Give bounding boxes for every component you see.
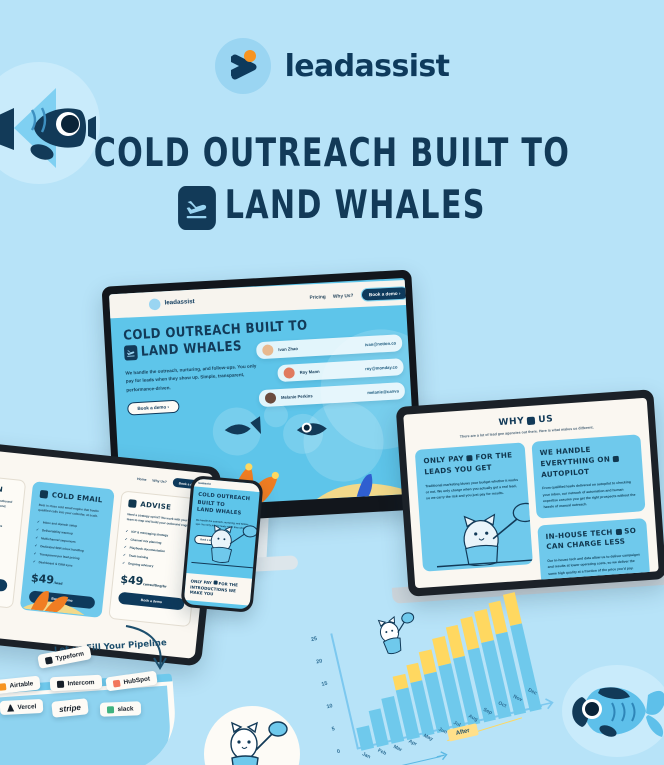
x-tick-feb: Feb (377, 748, 388, 757)
email-icon (40, 490, 49, 499)
y-tick-5: 5 (331, 726, 335, 733)
why-card-autopilot: WE HANDLE EVERYTHING ON AUTOPILOT From q… (531, 434, 646, 518)
advise-icon (128, 499, 137, 508)
poster-canvas: leadassist COLD OUTREACH BUILT TO LAND W… (0, 0, 664, 765)
tablet-nav-link-home[interactable]: Home (137, 476, 147, 481)
phone-footer-card: ONLY PAY FOR THE INTRODUCTIONS WE MAKE Y… (184, 573, 252, 605)
before-arrow (372, 756, 441, 765)
headline-line-2: LAND WHALES (225, 180, 486, 232)
y-tick-25: 25 (311, 636, 318, 643)
avatar (283, 367, 295, 379)
cat-with-net-icon (191, 519, 261, 577)
logo-chip-vercel: Vercel (0, 699, 44, 715)
cat-with-net-icon (433, 499, 533, 569)
pricing-card-cold-email: COLD EMAIL Best in class cold email engi… (20, 481, 115, 618)
brand-name: leadassist (285, 49, 450, 84)
nav-link-why-us[interactable]: Why Us? (333, 292, 354, 298)
x-tick-apr: Apr (407, 738, 417, 747)
check-icon: ✓ (125, 529, 128, 533)
y-tick-15: 15 (321, 681, 328, 688)
y-tick-10: 10 (326, 703, 333, 710)
monitor-logo[interactable]: leadassist (149, 296, 195, 310)
laptop-mockup: WHY US There are a lot of lead gen agenc… (396, 389, 664, 597)
check-icon: ✓ (123, 553, 126, 557)
avatar (265, 392, 277, 404)
check-icon: ✓ (37, 519, 40, 523)
money-icon (213, 581, 217, 585)
check-icon: ✓ (36, 527, 39, 531)
monitor-hero-subtitle: We handle the outreach, nurturing, and f… (125, 362, 258, 395)
check-icon: ✓ (124, 545, 127, 549)
check-icon: ✓ (33, 551, 36, 555)
money-icon (466, 455, 472, 461)
plane-landing-icon (178, 186, 216, 230)
plan-cta-button[interactable]: Book a demo (118, 591, 185, 610)
leadassist-arrow-icon (215, 38, 271, 94)
headline-line-1: COLD OUTREACH BUILT TO (46, 128, 617, 180)
list-item[interactable]: Roy Mann roy@monday.co (277, 358, 404, 382)
phone-mockup: leadassist COLD OUTREACH BUILT TO LAND W… (180, 475, 263, 613)
typeform-icon (45, 656, 53, 664)
y-tick-20: 20 (316, 658, 323, 665)
leadassist-arrow-icon (149, 298, 161, 310)
airtable-icon (0, 683, 6, 691)
check-icon: ✓ (33, 559, 36, 563)
wrench-icon (615, 528, 621, 534)
coral-illustration (21, 574, 115, 617)
x-tick-jan: Jan (361, 751, 371, 760)
pricing-grid: LINKEDIN Book more meetings with a warm … (0, 472, 203, 627)
page-title: COLD OUTREACH BUILT TO LAND WHALES (46, 128, 617, 233)
plane-landing-icon (124, 345, 138, 361)
check-icon: ✓ (122, 561, 125, 565)
x-tick-mar: Mar (392, 744, 403, 753)
cat-with-net-icon (204, 706, 300, 765)
why-card-only-pay: ONLY PAY FOR THE LEADS YOU GET Tradition… (415, 442, 533, 571)
hubspot-icon (113, 679, 121, 687)
logo-chip-intercom: Intercom (50, 675, 102, 692)
growth-bar-chart: 0 5 10 15 20 25 Jan Feb Mar (285, 564, 616, 765)
fish-icon (527, 417, 536, 426)
check-icon: ✓ (124, 537, 127, 541)
intercom-icon (57, 680, 64, 687)
vercel-icon (7, 704, 14, 711)
phone-logo[interactable]: leadassist (198, 481, 211, 485)
robot-icon (613, 456, 619, 462)
price-amount: $49consulting/hr (120, 573, 187, 593)
slack-icon (107, 706, 114, 713)
y-tick-0: 0 (336, 749, 340, 756)
check-icon: ✓ (34, 543, 37, 547)
check-icon: ✓ (35, 535, 38, 539)
nav-link-pricing[interactable]: Pricing (309, 293, 325, 299)
price-amount: $49/lead (0, 554, 10, 574)
tablet-nav-link-why-us[interactable]: Why Us? (152, 478, 167, 483)
book-demo-button[interactable]: Book a demo › (360, 286, 409, 302)
avatar (262, 344, 274, 356)
logo-chip-slack: slack (100, 701, 141, 716)
brand-lockup: leadassist (0, 38, 664, 94)
plan-cta-button[interactable]: Book a demo (0, 573, 8, 592)
